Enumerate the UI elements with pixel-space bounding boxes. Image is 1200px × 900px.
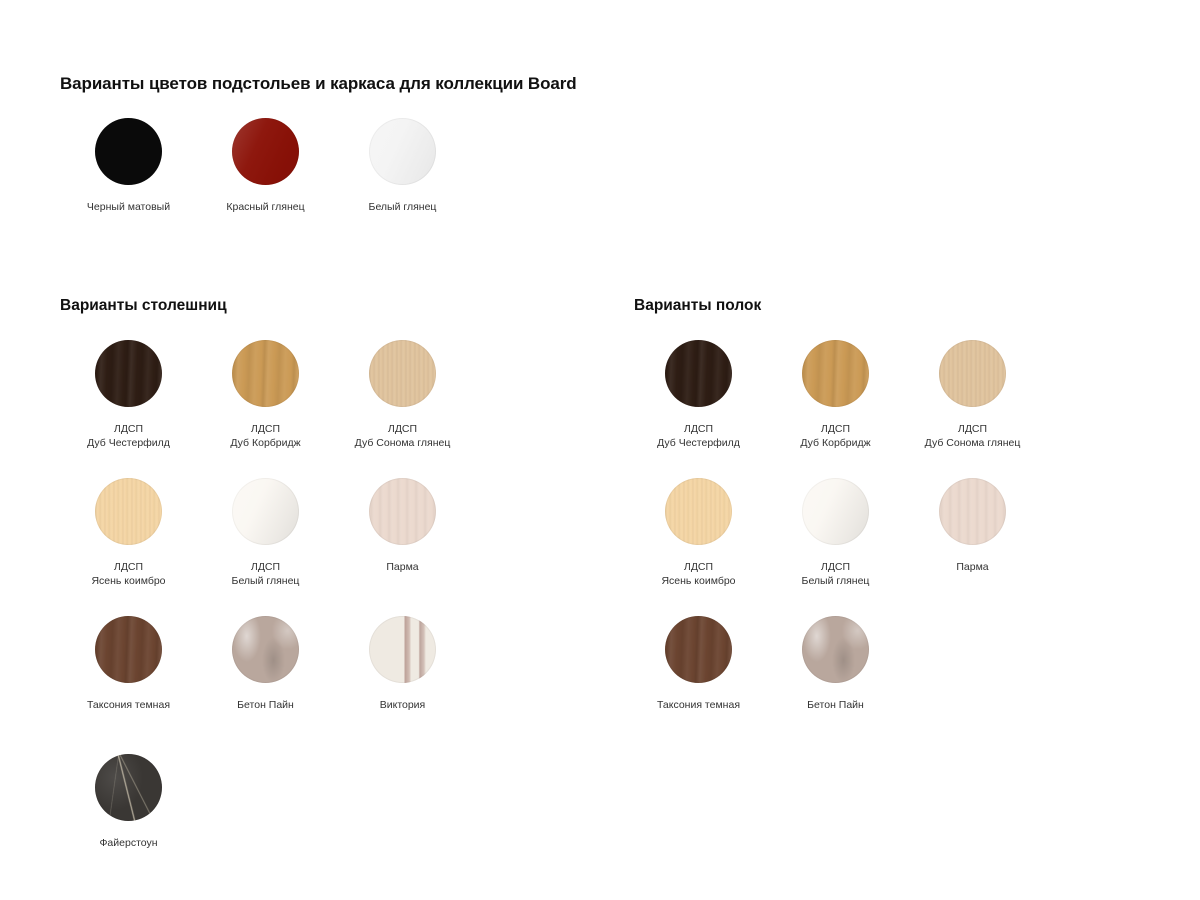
color-swatch[interactable]: [802, 340, 869, 407]
tabletop-option[interactable]: ЛДСПДуб Корбридж: [197, 340, 334, 478]
color-swatch[interactable]: [665, 340, 732, 407]
tabletop-option[interactable]: ЛДСПДуб Сонома глянец: [334, 340, 471, 478]
swatch-label: Дуб Честерфилд: [657, 437, 740, 451]
swatch-caption: ЛДСПДуб Честерфилд: [87, 423, 170, 450]
color-swatch[interactable]: [95, 754, 162, 821]
swatch-material-prefix: ЛДСП: [821, 561, 850, 573]
swatch-label: Дуб Корбридж: [230, 437, 300, 451]
shelf-option[interactable]: Бетон Пайн: [767, 616, 904, 754]
swatch-texture-overlay: [95, 478, 162, 545]
swatch-label: Черный матовый: [87, 201, 170, 213]
swatch-caption: ЛДСПЯсень коимбро: [661, 561, 735, 588]
swatch-caption: ЛДСПДуб Сонома глянец: [925, 423, 1021, 450]
swatch-label: Ясень коимбро: [661, 575, 735, 589]
color-options-page: Варианты цветов подстольев и каркаса для…: [0, 0, 1200, 900]
swatch-label: Дуб Сонома глянец: [925, 437, 1021, 451]
shelf-option[interactable]: ЛДСПДуб Сонома глянец: [904, 340, 1041, 478]
swatch-material-prefix: ЛДСП: [114, 561, 143, 573]
swatch-label: Файерстоун: [99, 837, 157, 849]
swatch-caption: ЛДСПДуб Сонома глянец: [355, 423, 451, 450]
color-swatch[interactable]: [939, 478, 1006, 545]
swatch-texture-overlay: [939, 340, 1006, 407]
color-swatch[interactable]: [665, 478, 732, 545]
swatch-row: ЛДСПЯсень коимброЛДСПБелый глянецПарма: [630, 478, 1041, 616]
color-swatch[interactable]: [802, 478, 869, 545]
swatch-caption: Бетон Пайн: [237, 699, 294, 713]
tabletop-option[interactable]: Таксония темная: [60, 616, 197, 754]
shelf-option[interactable]: Парма: [904, 478, 1041, 616]
color-swatch[interactable]: [95, 478, 162, 545]
swatch-caption: ЛДСПБелый глянец: [802, 561, 870, 588]
swatch-row: Таксония темнаяБетон ПайнВиктория: [60, 616, 471, 754]
page-title: Варианты цветов подстольев и каркаса для…: [60, 74, 577, 94]
swatch-texture-overlay: [665, 340, 732, 407]
shelf-option[interactable]: ЛДСПДуб Корбридж: [767, 340, 904, 478]
swatch-label: Белый глянец: [232, 575, 300, 589]
swatch-label: Дуб Сонома глянец: [355, 437, 451, 451]
swatch-material-prefix: ЛДСП: [251, 423, 280, 435]
tabletop-option[interactable]: Виктория: [334, 616, 471, 754]
swatch-caption: Виктория: [380, 699, 426, 713]
frame-color-option[interactable]: Белый глянец: [334, 118, 471, 228]
swatch-caption: ЛДСПДуб Корбридж: [800, 423, 870, 450]
color-swatch[interactable]: [232, 616, 299, 683]
swatch-caption: Бетон Пайн: [807, 699, 864, 713]
swatch-material-prefix: ЛДСП: [821, 423, 850, 435]
swatch-texture-overlay: [665, 616, 732, 683]
swatch-texture-overlay: [802, 478, 869, 545]
swatch-label: Парма: [386, 561, 418, 573]
swatch-caption: Парма: [956, 561, 988, 575]
swatch-caption: Файерстоун: [99, 837, 157, 851]
color-swatch[interactable]: [369, 340, 436, 407]
swatch-row: Файерстоун: [60, 754, 471, 892]
swatch-row: Таксония темнаяБетон Пайн: [630, 616, 1041, 754]
tabletop-option[interactable]: Файерстоун: [60, 754, 197, 892]
swatch-label: Дуб Честерфилд: [87, 437, 170, 451]
swatch-texture-overlay: [939, 478, 1006, 545]
gloss-highlight: [369, 118, 436, 185]
frame-color-option[interactable]: Красный глянец: [197, 118, 334, 228]
swatch-label: Белый глянец: [369, 201, 437, 213]
swatch-material-prefix: ЛДСП: [251, 561, 280, 573]
shelf-option[interactable]: ЛДСПЯсень коимбро: [630, 478, 767, 616]
swatch-label: Таксония темная: [87, 699, 170, 711]
color-swatch[interactable]: [369, 118, 436, 185]
swatch-material-prefix: ЛДСП: [114, 423, 143, 435]
swatch-texture-overlay: [802, 616, 869, 683]
color-swatch[interactable]: [369, 616, 436, 683]
swatch-label: Белый глянец: [802, 575, 870, 589]
swatch-caption: Парма: [386, 561, 418, 575]
swatch-row: Черный матовыйКрасный глянецБелый глянец: [60, 118, 471, 228]
color-swatch[interactable]: [369, 478, 436, 545]
swatch-caption: Красный глянец: [226, 201, 304, 215]
tabletop-option[interactable]: ЛДСПДуб Честерфилд: [60, 340, 197, 478]
swatch-texture-overlay: [369, 478, 436, 545]
color-swatch[interactable]: [939, 340, 1006, 407]
color-swatch[interactable]: [232, 478, 299, 545]
swatch-material-prefix: ЛДСП: [958, 423, 987, 435]
color-swatch[interactable]: [802, 616, 869, 683]
swatch-texture-overlay: [369, 616, 436, 683]
color-swatch[interactable]: [95, 616, 162, 683]
frame-color-grid: Черный матовыйКрасный глянецБелый глянец: [60, 118, 471, 228]
swatch-row: ЛДСПДуб ЧестерфилдЛДСПДуб КорбриджЛДСПДу…: [630, 340, 1041, 478]
swatch-material-prefix: ЛДСП: [684, 423, 713, 435]
shelf-option[interactable]: ЛДСПДуб Честерфилд: [630, 340, 767, 478]
swatch-label: Парма: [956, 561, 988, 573]
swatch-texture-overlay: [95, 340, 162, 407]
swatch-texture-overlay: [665, 478, 732, 545]
tabletop-option[interactable]: Бетон Пайн: [197, 616, 334, 754]
section-title-shelves: Варианты полок: [634, 297, 761, 315]
swatch-caption: ЛДСПЯсень коимбро: [91, 561, 165, 588]
swatch-label: Дуб Корбридж: [800, 437, 870, 451]
tabletop-option[interactable]: Парма: [334, 478, 471, 616]
shelf-option[interactable]: ЛДСПБелый глянец: [767, 478, 904, 616]
swatch-caption: Черный матовый: [87, 201, 170, 215]
color-swatch[interactable]: [95, 118, 162, 185]
swatch-row: ЛДСПДуб ЧестерфилдЛДСПДуб КорбриджЛДСПДу…: [60, 340, 471, 478]
swatch-label: Ясень коимбро: [91, 575, 165, 589]
swatch-caption: Таксония темная: [657, 699, 740, 713]
color-swatch[interactable]: [232, 340, 299, 407]
swatch-caption: ЛДСПДуб Честерфилд: [657, 423, 740, 450]
swatch-caption: ЛДСПБелый глянец: [232, 561, 300, 588]
swatch-label: Виктория: [380, 699, 426, 711]
shelf-option[interactable]: Таксония темная: [630, 616, 767, 754]
swatch-row: ЛДСПЯсень коимброЛДСПБелый глянецПарма: [60, 478, 471, 616]
tabletop-swatch-grid: ЛДСПДуб ЧестерфилдЛДСПДуб КорбриджЛДСПДу…: [60, 340, 471, 892]
tabletop-option[interactable]: ЛДСПБелый глянец: [197, 478, 334, 616]
swatch-texture-overlay: [95, 754, 162, 821]
swatch-material-prefix: ЛДСП: [684, 561, 713, 573]
shelf-swatch-grid: ЛДСПДуб ЧестерфилдЛДСПДуб КорбриджЛДСПДу…: [630, 340, 1041, 754]
swatch-label: Таксония темная: [657, 699, 740, 711]
swatch-texture-overlay: [232, 478, 299, 545]
swatch-caption: Белый глянец: [369, 201, 437, 215]
section-title-tabletops: Варианты столешниц: [60, 297, 227, 315]
swatch-material-prefix: ЛДСП: [388, 423, 417, 435]
swatch-label: Бетон Пайн: [807, 699, 864, 711]
tabletop-option[interactable]: ЛДСПЯсень коимбро: [60, 478, 197, 616]
swatch-caption: ЛДСПДуб Корбридж: [230, 423, 300, 450]
color-swatch[interactable]: [665, 616, 732, 683]
swatch-texture-overlay: [232, 340, 299, 407]
color-swatch[interactable]: [95, 340, 162, 407]
swatch-texture-overlay: [95, 616, 162, 683]
swatch-label: Бетон Пайн: [237, 699, 294, 711]
frame-color-option[interactable]: Черный матовый: [60, 118, 197, 228]
color-swatch[interactable]: [232, 118, 299, 185]
swatch-caption: Таксония темная: [87, 699, 170, 713]
swatch-label: Красный глянец: [226, 201, 304, 213]
swatch-texture-overlay: [232, 616, 299, 683]
swatch-texture-overlay: [802, 340, 869, 407]
gloss-highlight: [232, 118, 299, 185]
swatch-texture-overlay: [369, 340, 436, 407]
